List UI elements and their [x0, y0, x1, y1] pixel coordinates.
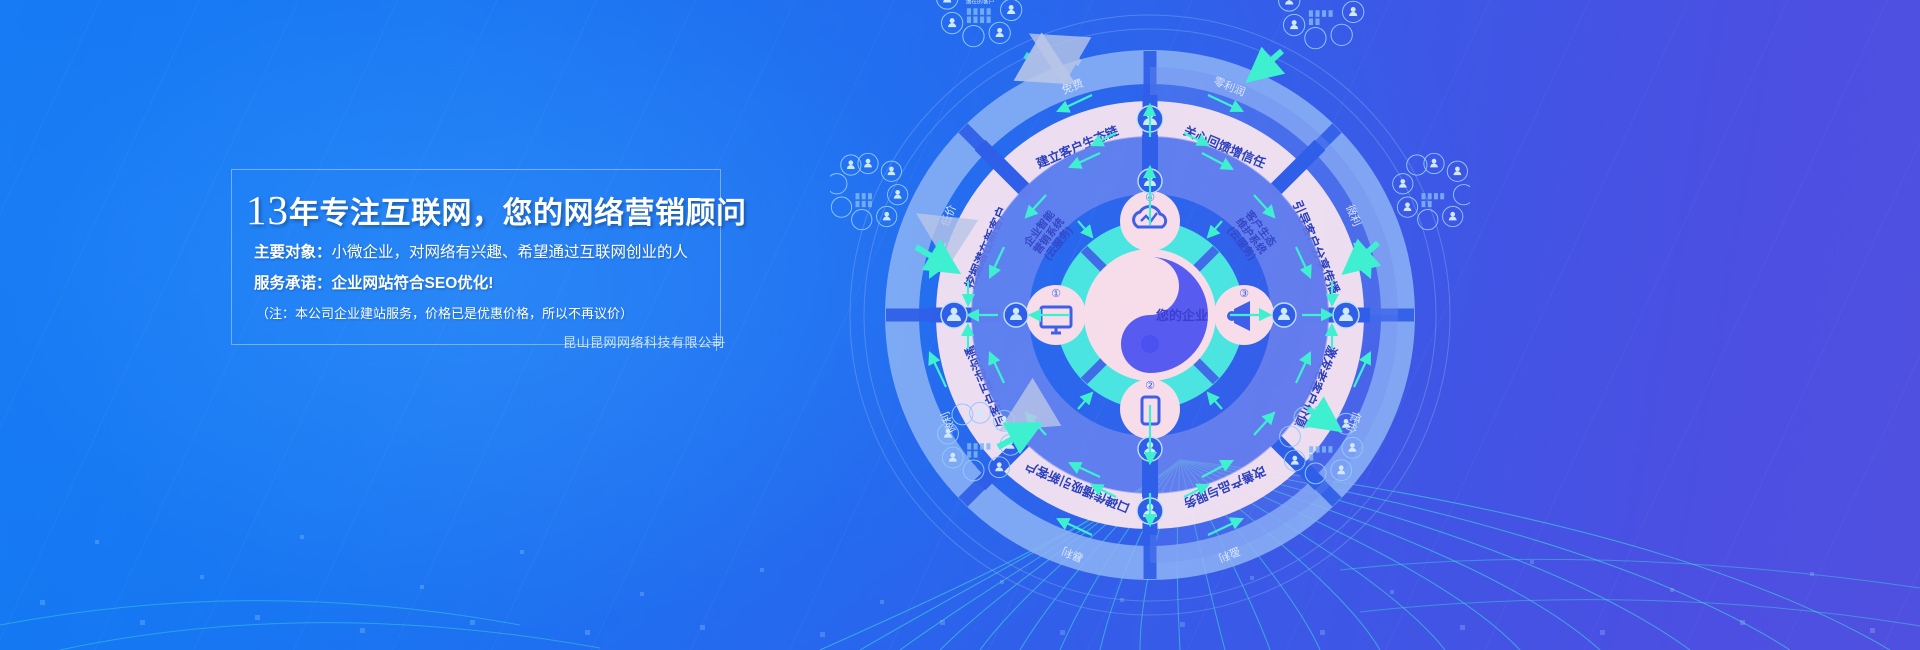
node-cluster-top-left: 潜在的客户 — [937, 0, 1022, 47]
promise-value: 企业网站符合SEO优化! — [332, 275, 494, 292]
audience-label: 主要对象： — [254, 244, 332, 261]
company-name: 昆山昆网网络科技有限公司 — [563, 332, 725, 351]
promo-banner: 13年专注互联网，您的网络营销顾问 主要对象：小微企业，对网络有兴趣、希望通过互… — [0, 0, 1920, 650]
node-cluster-top-right — [1279, 0, 1364, 49]
promise-line: 服务承诺：企业网站符合SEO优化! — [254, 271, 493, 293]
center-label: 您的企业 — [1156, 308, 1208, 323]
crosshair-marker-icon — [707, 333, 725, 351]
years-number: 13 — [246, 187, 289, 233]
core-icon-monitor-num: ① — [1051, 288, 1061, 300]
price-note: （注：本公司企业建站服务，价格已是优惠价格，所以不再议价） — [256, 303, 633, 322]
core-icon-mobile-num: ② — [1145, 380, 1155, 392]
node-cluster-left — [830, 153, 908, 229]
marketing-ecosystem-diagram: 免费 零利润 微利 低价 盈利 暴利 微利 低价 — [830, 0, 1470, 645]
node-cluster-label: 潜在的客户 — [966, 0, 995, 5]
audience-line: 主要对象：小微企业，对网络有兴趣、希望通过互联网创业的人 — [254, 240, 688, 262]
core-icon-megaphone-num: ③ — [1239, 288, 1249, 300]
audience-value: 小微企业，对网络有兴趣、希望通过互联网创业的人 — [332, 244, 689, 261]
page-title: 13年专注互联网，您的网络营销顾问 — [246, 186, 716, 234]
node-cluster-right — [1393, 153, 1470, 229]
promise-label: 服务承诺： — [254, 275, 332, 292]
headline-rest: 年专注互联网，您的网络营销顾问 — [289, 197, 747, 230]
